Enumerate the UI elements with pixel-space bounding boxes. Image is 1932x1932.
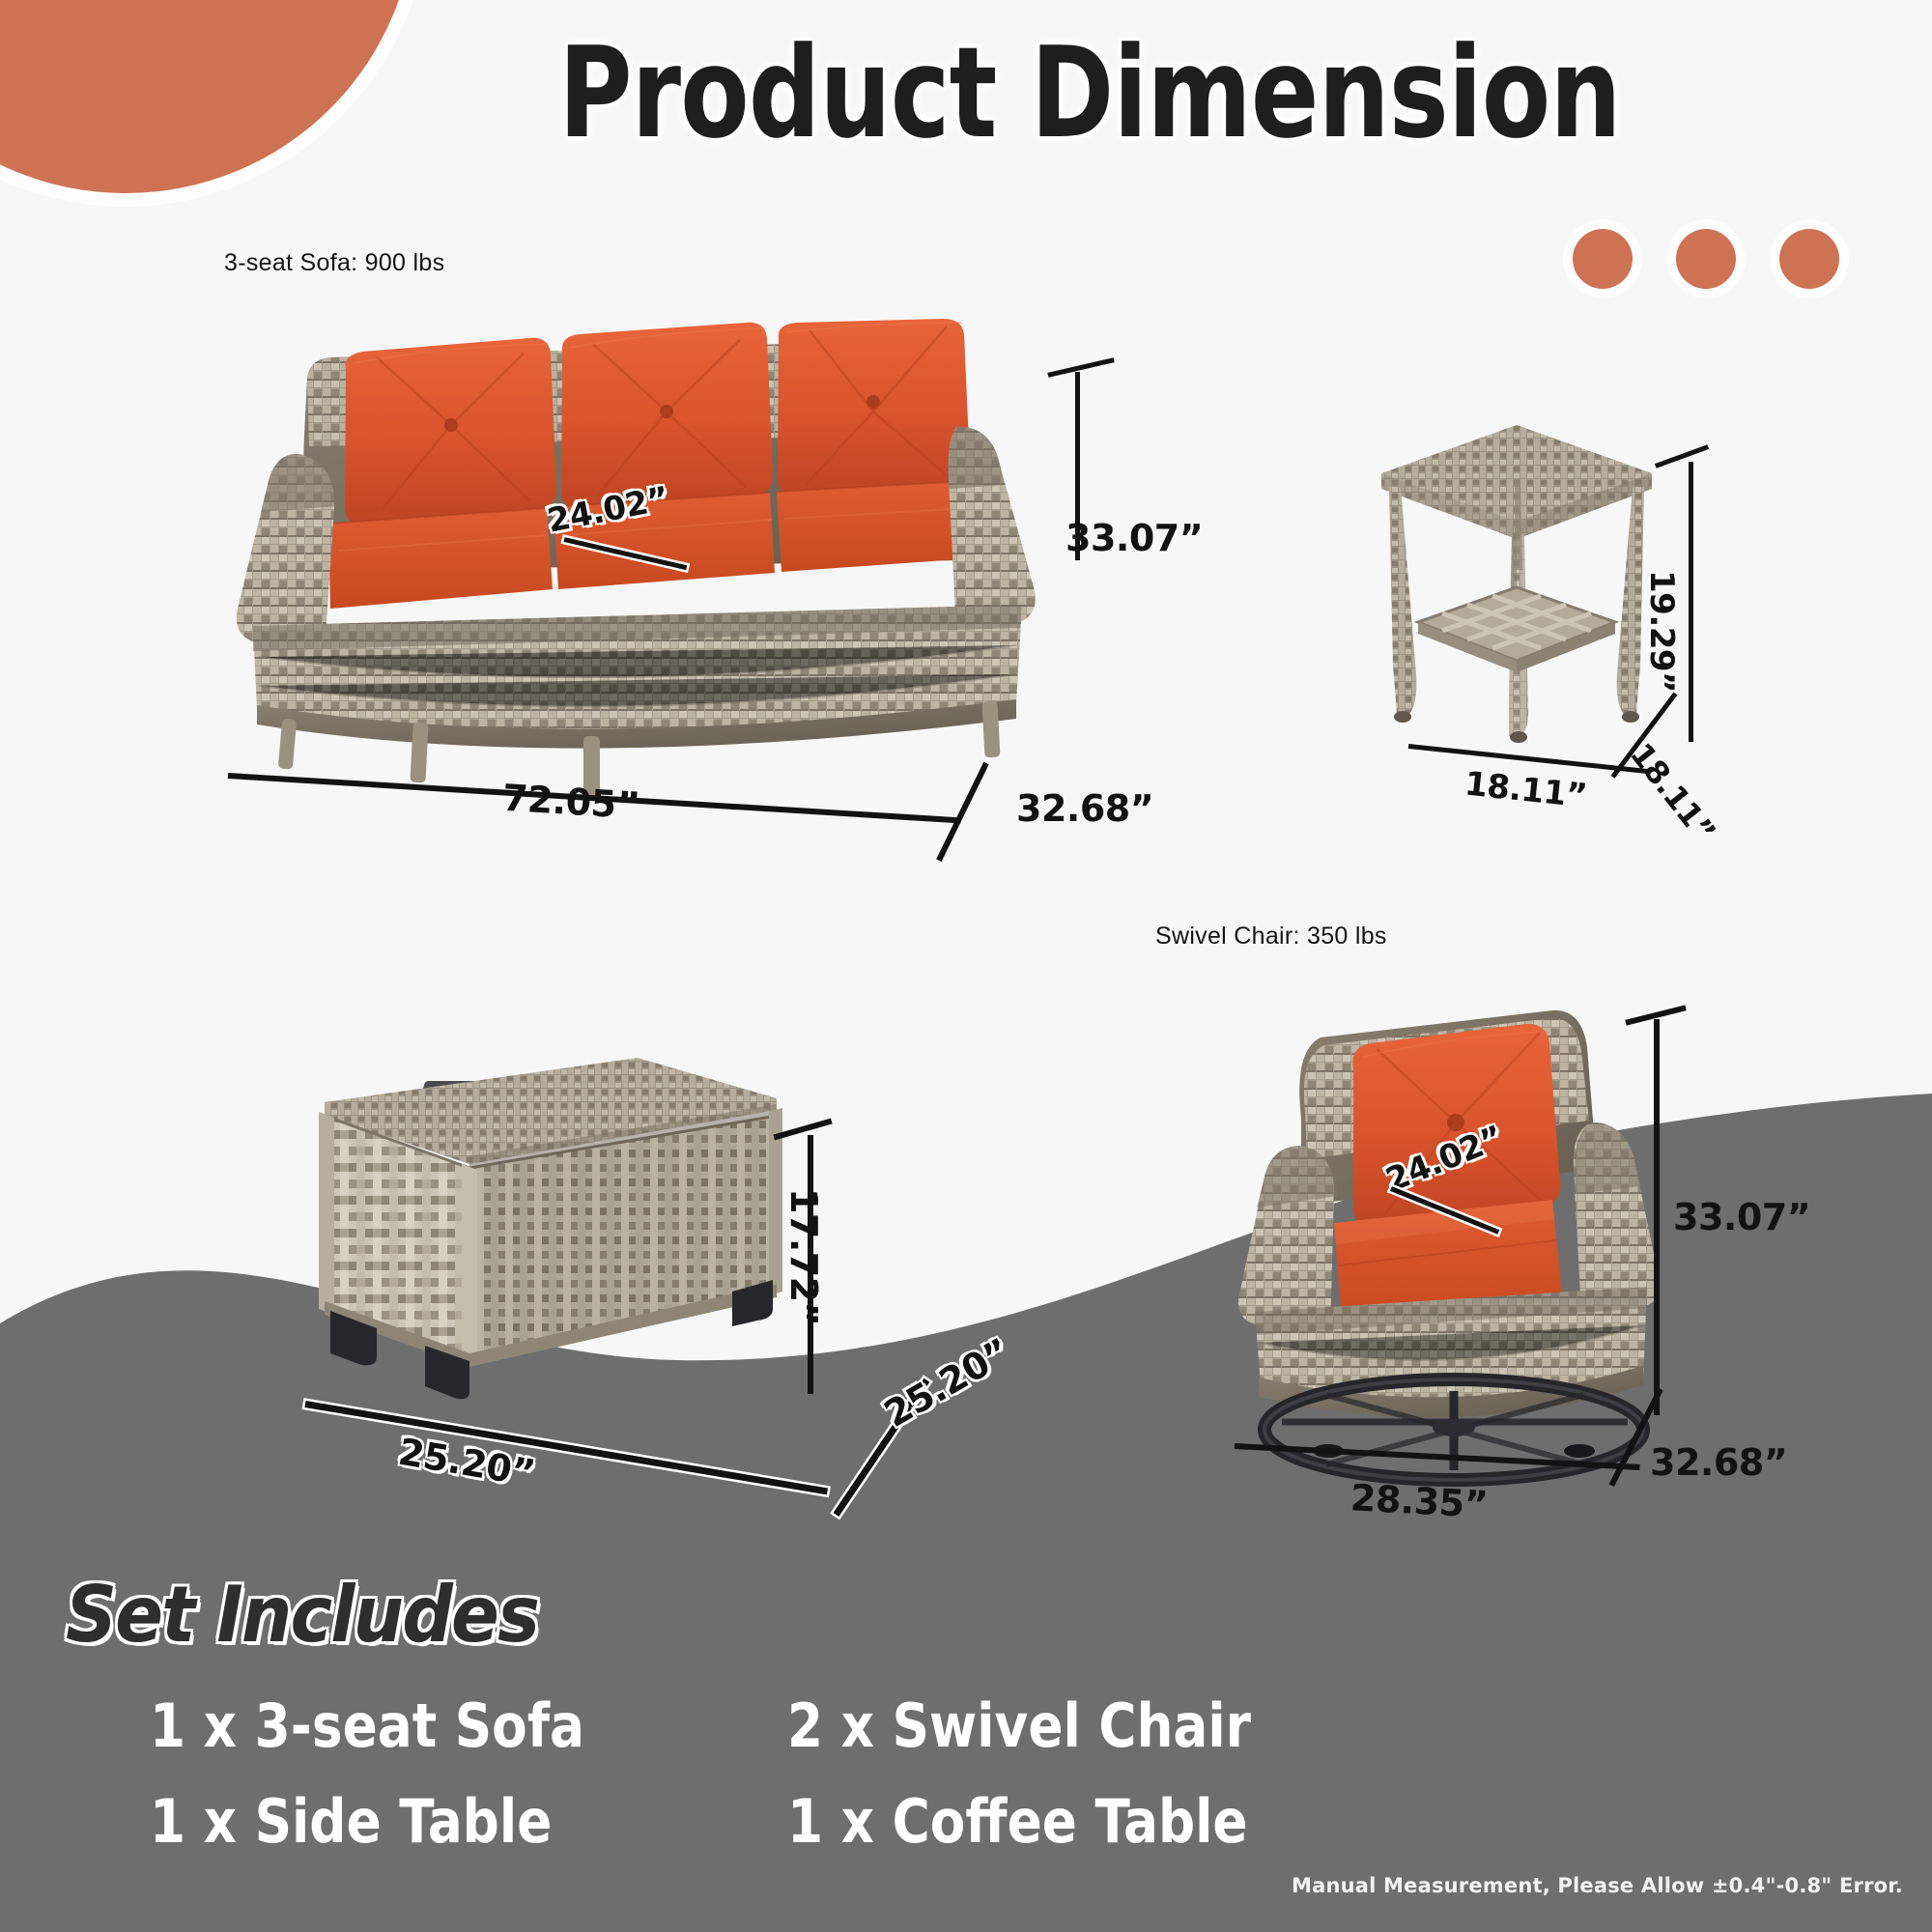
sofa-width-dim: 72.05” — [501, 777, 641, 828]
chair-width-dim: 28.35” — [1350, 1476, 1489, 1525]
coffee-table-illustration — [270, 1048, 811, 1425]
list-item: 1 x Coffee Table — [787, 1786, 1402, 1857]
measurement-disclaimer: Manual Measurement, Please Allow ±0.4"-0… — [1292, 1874, 1903, 1897]
chair-height-leader — [1654, 1019, 1660, 1415]
list-item: 1 x Side Table — [150, 1786, 698, 1857]
set-includes-list: 1 x 3-seat Sofa 2 x Swivel Chair 1 x Sid… — [150, 1690, 1502, 1857]
dot-2-icon — [1676, 229, 1736, 289]
set-includes-heading: Set Includes — [66, 1570, 538, 1660]
swivel-chair-illustration — [1212, 976, 1676, 1488]
sofa-height-dim: 33.07” — [1065, 517, 1203, 559]
list-item: 1 x 3-seat Sofa — [150, 1690, 698, 1761]
swivel-chair-weight-label: Swivel Chair: 350 lbs — [1155, 923, 1387, 951]
chair-height-dim: 33.07” — [1673, 1196, 1810, 1238]
sofa-weight-label: 3-seat Sofa: 900 lbs — [224, 249, 444, 277]
sofa-illustration — [184, 319, 1101, 821]
list-item: 2 x Swivel Chair — [787, 1690, 1402, 1761]
side-table-height-leader — [1689, 462, 1693, 742]
coffee-table-height-dim: 17.72” — [782, 1188, 825, 1325]
dot-3-icon — [1779, 229, 1839, 289]
dot-1-icon — [1573, 229, 1633, 289]
chair-depth-dim: 32.68” — [1650, 1441, 1787, 1484]
side-table-height-dim: 19.29” — [1642, 570, 1681, 693]
sofa-depth-dim: 32.68” — [1016, 787, 1153, 830]
side-table-illustration — [1372, 425, 1662, 782]
page-title: Product Dimension — [541, 19, 1638, 166]
decorative-dots — [1573, 229, 1839, 289]
